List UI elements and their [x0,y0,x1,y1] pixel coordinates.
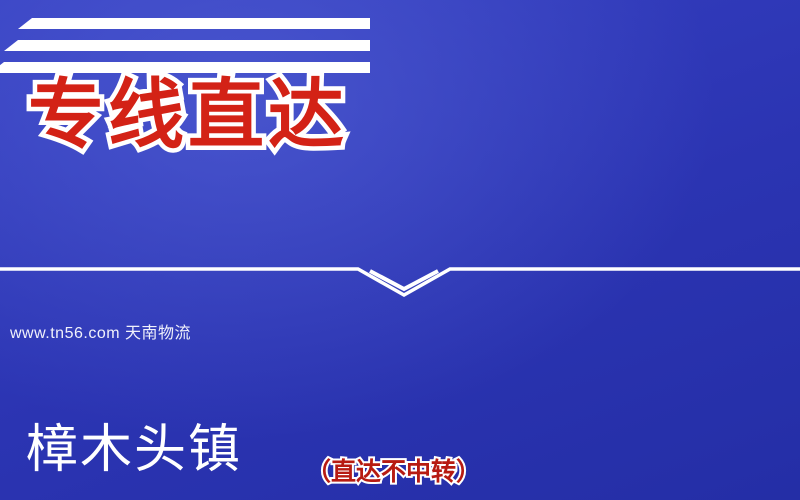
route-note-direct: （直达不中转） [306,452,800,488]
site-url-label: www.tn56.com 天南物流 [10,319,800,343]
stripe-2 [4,40,370,51]
stripe-1 [18,18,370,29]
logistics-route-banner: 专线直达 www.tn56.com 天南物流 樟木头镇 （直达不中转） 【往返运… [0,0,800,500]
headline-title: 专线直达 [28,68,800,163]
divider-with-chevron [0,255,800,303]
double-chevron-down-icon [0,255,800,303]
